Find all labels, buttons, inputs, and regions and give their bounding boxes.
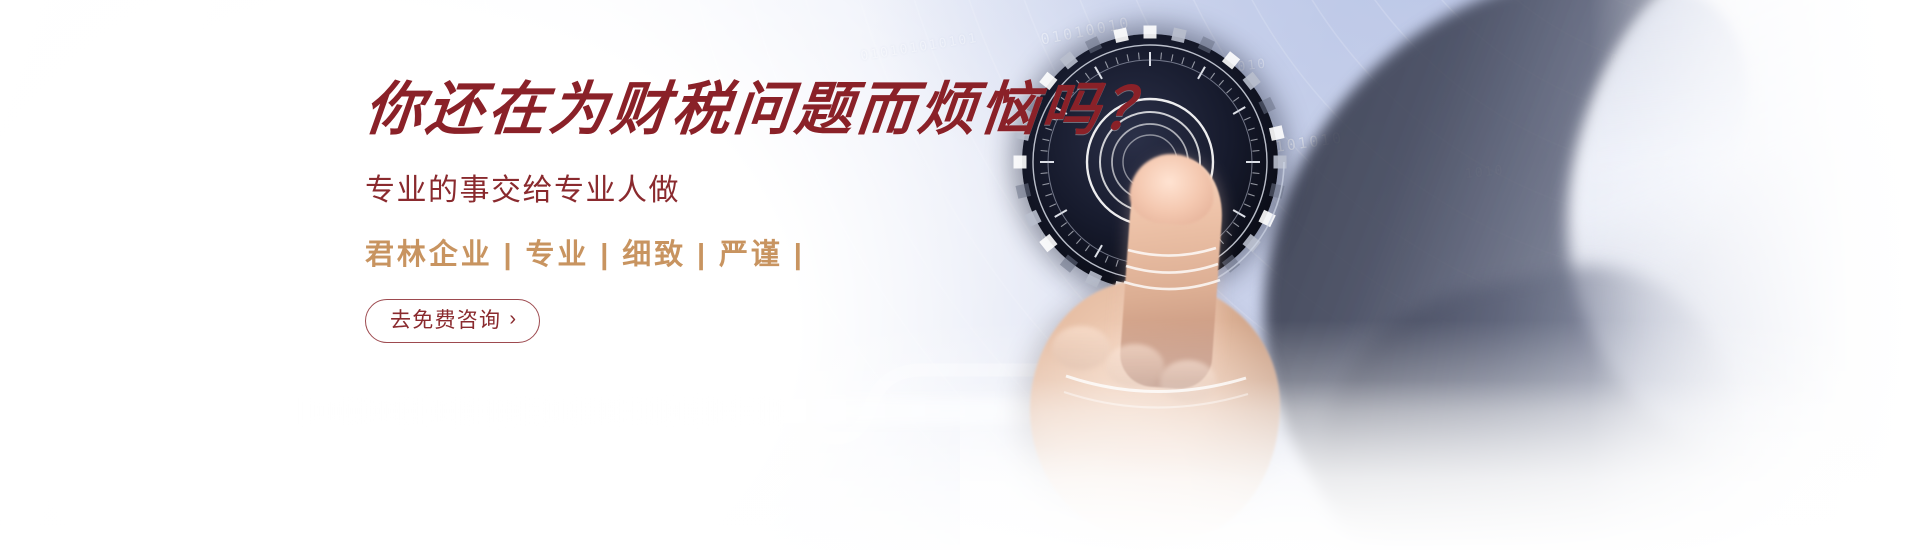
hero-tagline: 君林企业 | 专业 | 细致 | 严谨 | [365, 231, 1265, 273]
page-title: 你还在为财税问题而烦恼吗？ [362, 78, 1269, 141]
hero-text-block: 你还在为财税问题而烦恼吗？ 专业的事交给专业人做 君林企业 | 专业 | 细致 … [365, 78, 1265, 343]
hero-subtitle: 专业的事交给专业人做 [365, 165, 1265, 209]
cta-label: 去免费咨询 [390, 310, 501, 331]
background-bottom-glow [0, 320, 1920, 550]
free-consultation-button[interactable]: 去免费咨询 › [365, 299, 540, 343]
hero-banner: 0101001001010101010101010010101010101010… [0, 0, 1920, 550]
chevron-right-icon: › [509, 309, 517, 329]
